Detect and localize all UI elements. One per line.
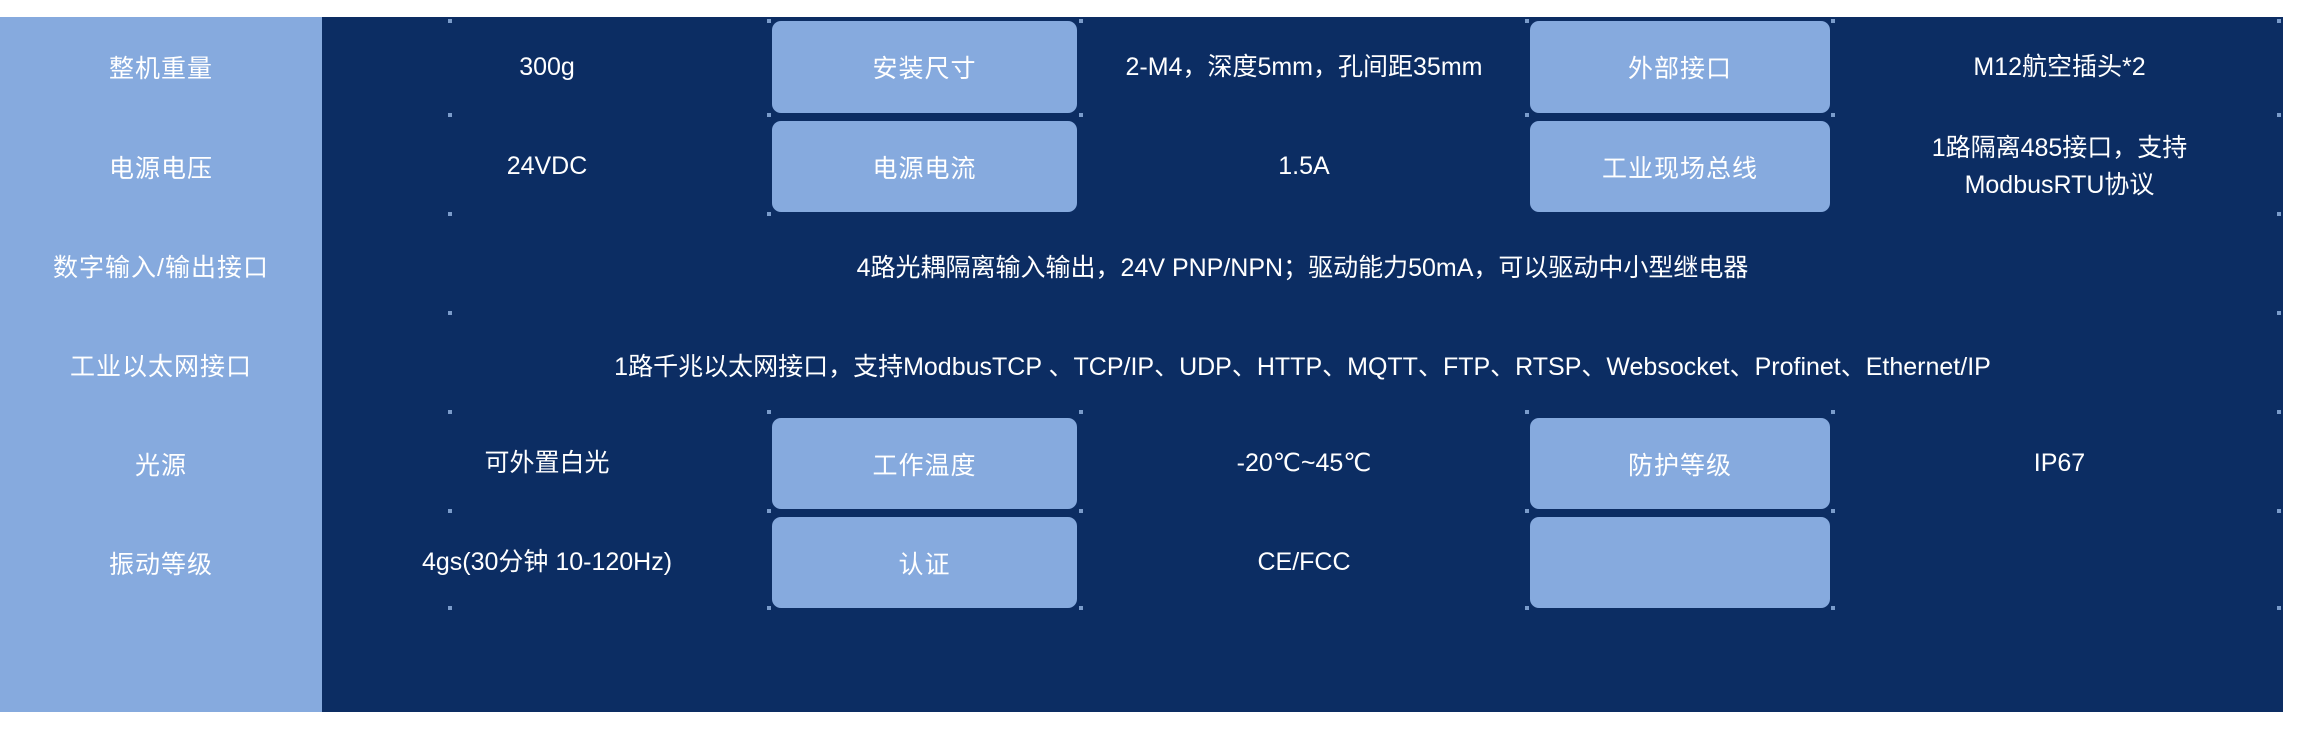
- selection-handle[interactable]: [448, 410, 452, 414]
- label-text: 光源: [135, 446, 187, 482]
- selection-handle[interactable]: [767, 509, 771, 513]
- value-text: 2-M4，深度5mm，孔间距35mm: [1126, 49, 1483, 85]
- label-text: 电源电压: [109, 149, 213, 185]
- parameter-label-digital-io: 数字输入/输出接口: [0, 216, 322, 315]
- value-external-interface: M12航空插头*2: [1836, 17, 2283, 117]
- value-text: IP67: [2034, 445, 2085, 481]
- selection-handle[interactable]: [1525, 606, 1529, 610]
- selection-handle[interactable]: [1525, 19, 1529, 23]
- table-row: 1路千兆以太网接口，支持ModbusTCP 、TCP/IP、UDP、HTTP、M…: [322, 315, 2283, 414]
- value-text: CE/FCC: [1257, 544, 1350, 580]
- selection-handle[interactable]: [1079, 113, 1083, 117]
- selection-handle[interactable]: [1525, 113, 1529, 117]
- label-text: 振动等级: [109, 545, 213, 581]
- parameter-label-ethernet: 工业以太网接口: [0, 315, 322, 414]
- value-current: 1.5A: [1084, 117, 1524, 216]
- selection-handle[interactable]: [2277, 19, 2281, 23]
- selection-handle[interactable]: [1831, 410, 1835, 414]
- label-text: 数字输入/输出接口: [53, 248, 269, 284]
- selection-handle[interactable]: [767, 606, 771, 610]
- value-text: 可外置白光: [484, 445, 609, 481]
- chip-text: 防护等级: [1628, 446, 1732, 482]
- value-vibration: 4gs(30分钟 10-120Hz): [322, 513, 772, 612]
- value-text: 4gs(30分钟 10-120Hz): [422, 544, 672, 580]
- chip-mounting-size[interactable]: 安装尺寸: [772, 21, 1077, 113]
- selection-handle[interactable]: [1831, 19, 1835, 23]
- selection-handle[interactable]: [448, 212, 452, 216]
- selection-handle[interactable]: [767, 212, 771, 216]
- selection-handle[interactable]: [1079, 19, 1083, 23]
- chip-text: 工业现场总线: [1602, 149, 1758, 185]
- selection-handle[interactable]: [1831, 509, 1835, 513]
- selection-handle[interactable]: [2277, 113, 2281, 117]
- chip-text: 安装尺寸: [872, 49, 976, 85]
- table-row: 24VDC 电源电流 1.5A 工业现场总线 1路隔离485接口，支持Modbu…: [322, 117, 2283, 216]
- value-empty: [1836, 513, 2283, 612]
- table-row: 4路光耦隔离输入输出，24V PNP/NPN；驱动能力50mA，可以驱动中小型继…: [322, 216, 2283, 315]
- selection-handle[interactable]: [2277, 212, 2281, 216]
- value-text: 4路光耦隔离输入输出，24V PNP/NPN；驱动能力50mA，可以驱动中小型继…: [857, 248, 1749, 284]
- value-certification: CE/FCC: [1084, 513, 1524, 612]
- value-text: 1路隔离485接口，支持ModbusRTU协议: [1870, 130, 2250, 203]
- selection-handle[interactable]: [448, 509, 452, 513]
- label-text: 整机重量: [109, 49, 213, 85]
- table-row: 可外置白光 工作温度 -20℃~45℃ 防护等级 IP67: [322, 414, 2283, 513]
- selection-handle[interactable]: [1831, 606, 1835, 610]
- value-text: 24VDC: [507, 148, 588, 184]
- selection-handle[interactable]: [767, 19, 771, 23]
- chip-protection-rating[interactable]: 防护等级: [1530, 418, 1830, 509]
- selection-handle[interactable]: [448, 606, 452, 610]
- value-text: 1.5A: [1278, 148, 1329, 184]
- selection-handle[interactable]: [1525, 410, 1529, 414]
- chip-fieldbus[interactable]: 工业现场总线: [1530, 121, 1830, 212]
- value-text: -20℃~45℃: [1237, 445, 1372, 481]
- parameter-label-light-source: 光源: [0, 414, 322, 513]
- selection-handle[interactable]: [1831, 113, 1835, 117]
- specification-body: 300g 安装尺寸 2-M4，深度5mm，孔间距35mm 外部接口 M12航空插…: [322, 17, 2283, 712]
- value-digital-io: 4路光耦隔离输入输出，24V PNP/NPN；驱动能力50mA，可以驱动中小型继…: [322, 216, 2283, 315]
- table-row: 300g 安装尺寸 2-M4，深度5mm，孔间距35mm 外部接口 M12航空插…: [322, 17, 2283, 117]
- chip-text: 外部接口: [1628, 49, 1732, 85]
- value-text: 1路千兆以太网接口，支持ModbusTCP 、TCP/IP、UDP、HTTP、M…: [614, 347, 1991, 383]
- selection-handle[interactable]: [2277, 410, 2281, 414]
- selection-handle[interactable]: [1079, 410, 1083, 414]
- label-text: 工业以太网接口: [70, 347, 252, 383]
- value-fieldbus: 1路隔离485接口，支持ModbusRTU协议: [1836, 117, 2283, 216]
- selection-handle[interactable]: [1525, 509, 1529, 513]
- parameter-label-voltage: 电源电压: [0, 117, 322, 216]
- chip-certification[interactable]: 认证: [772, 517, 1077, 608]
- chip-external-interface[interactable]: 外部接口: [1530, 21, 1830, 113]
- value-ethernet: 1路千兆以太网接口，支持ModbusTCP 、TCP/IP、UDP、HTTP、M…: [322, 315, 2283, 414]
- value-operating-temperature: -20℃~45℃: [1084, 414, 1524, 513]
- value-text: M12航空插头*2: [1973, 49, 2145, 85]
- value-protection-rating: IP67: [1836, 414, 2283, 513]
- selection-handle[interactable]: [2277, 606, 2281, 610]
- selection-handle[interactable]: [767, 410, 771, 414]
- chip-text: 工作温度: [872, 446, 976, 482]
- selection-handle[interactable]: [767, 113, 771, 117]
- selection-handle[interactable]: [448, 19, 452, 23]
- specification-table: 整机重量 电源电压 数字输入/输出接口 工业以太网接口 光源 振动等级 300g…: [0, 17, 2283, 712]
- value-light-source: 可外置白光: [322, 414, 772, 513]
- table-row: 4gs(30分钟 10-120Hz) 认证 CE/FCC: [322, 513, 2283, 612]
- parameter-label-weight: 整机重量: [0, 17, 322, 117]
- value-voltage: 24VDC: [322, 117, 772, 216]
- selection-handle[interactable]: [448, 113, 452, 117]
- chip-empty[interactable]: [1530, 517, 1830, 608]
- value-mounting-size: 2-M4，深度5mm，孔间距35mm: [1084, 17, 1524, 117]
- chip-current[interactable]: 电源电流: [772, 121, 1077, 212]
- parameter-label-column: 整机重量 电源电压 数字输入/输出接口 工业以太网接口 光源 振动等级: [0, 17, 322, 712]
- value-text: 300g: [519, 49, 575, 85]
- selection-handle[interactable]: [1079, 509, 1083, 513]
- selection-handle[interactable]: [448, 311, 452, 315]
- selection-handle[interactable]: [2277, 311, 2281, 315]
- chip-text: 电源电流: [872, 149, 976, 185]
- value-weight: 300g: [322, 17, 772, 117]
- parameter-label-vibration: 振动等级: [0, 513, 322, 612]
- chip-text: 认证: [898, 545, 950, 581]
- chip-operating-temperature[interactable]: 工作温度: [772, 418, 1077, 509]
- selection-handle[interactable]: [2277, 509, 2281, 513]
- selection-handle[interactable]: [1079, 606, 1083, 610]
